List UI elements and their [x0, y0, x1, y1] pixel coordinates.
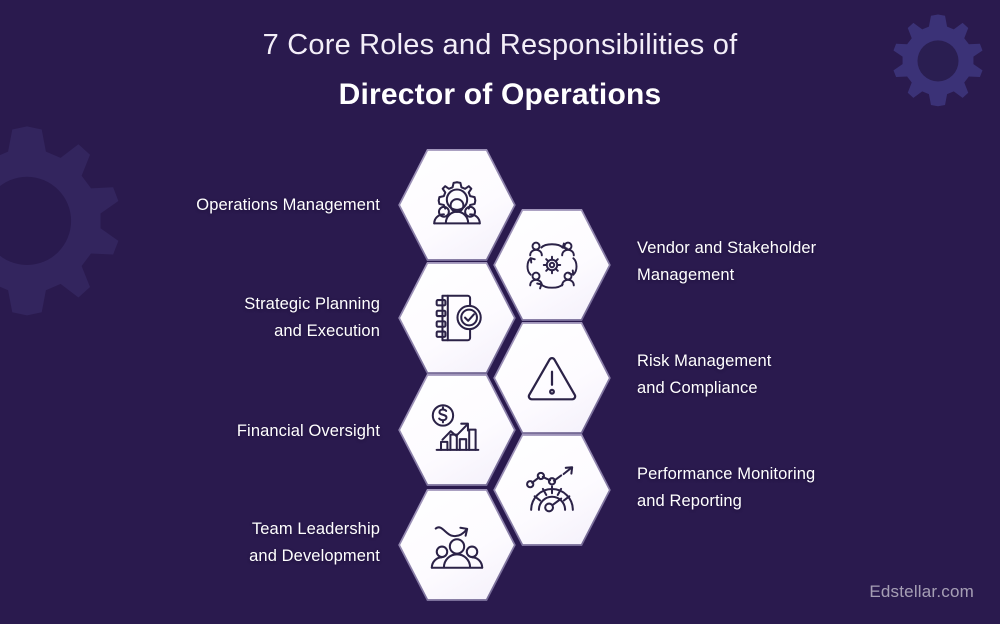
title-line-1: 7 Core Roles and Responsibilities of	[0, 28, 1000, 63]
label-financial-oversight: Financial Oversight	[60, 418, 380, 445]
label-risk-management: Risk Management and Compliance	[637, 348, 967, 401]
label-text-line2: and Compliance	[637, 379, 758, 397]
label-text-line2: and Execution	[274, 322, 380, 340]
label-text-line1: Risk Management	[637, 352, 771, 370]
watermark: Edstellar.com	[869, 582, 974, 602]
label-text-line1: Performance Monitoring	[637, 465, 815, 483]
page-title: 7 Core Roles and Responsibilities of Dir…	[0, 28, 1000, 113]
label-text-line2: and Development	[249, 547, 380, 565]
label-strategic-planning: Strategic Planning and Execution	[60, 291, 380, 344]
label-operations-management: Operations Management	[60, 192, 380, 219]
label-text-line1: Vendor and Stakeholder	[637, 239, 816, 257]
label-vendor-stakeholder-management: Vendor and Stakeholder Management	[637, 235, 967, 288]
label-text-line1: Team Leadership	[252, 520, 380, 538]
title-line-2: Director of Operations	[0, 77, 1000, 113]
label-text-line1: Strategic Planning	[244, 295, 380, 313]
label-text: Operations Management	[196, 196, 380, 214]
label-performance-monitoring: Performance Monitoring and Reporting	[637, 461, 967, 514]
label-text: Financial Oversight	[237, 422, 380, 440]
label-text-line2: and Reporting	[637, 492, 742, 510]
label-text-line2: Management	[637, 266, 734, 284]
people-growth-arrow-icon	[397, 486, 517, 604]
hex-tile-team-leadership[interactable]	[397, 486, 517, 604]
infographic-canvas: 7 Core Roles and Responsibilities of Dir…	[0, 0, 1000, 624]
label-team-leadership: Team Leadership and Development	[60, 516, 380, 569]
